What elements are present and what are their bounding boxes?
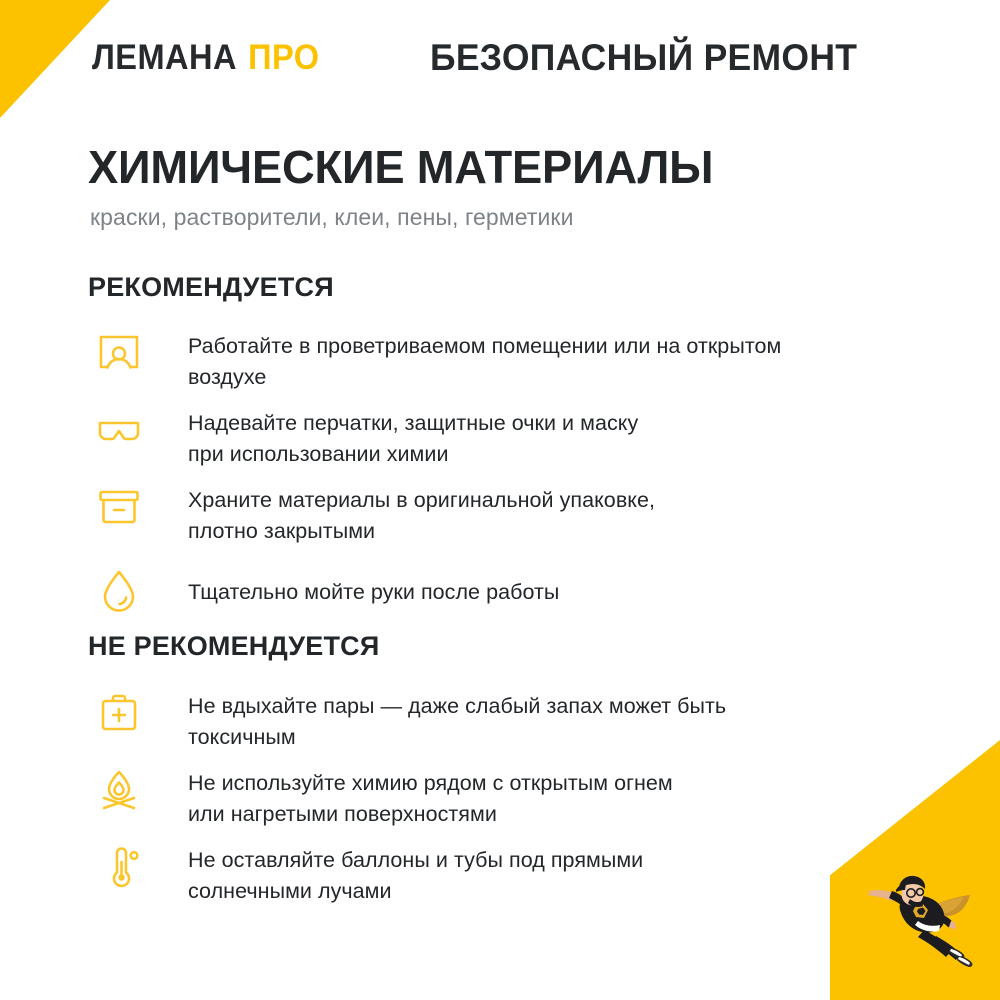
- first-aid-kit-icon: [88, 688, 188, 736]
- logo-secondary-text: ПРО: [248, 40, 319, 75]
- list-item: Тщательно мойте руки после работы: [88, 561, 918, 613]
- storage-box-icon: [88, 482, 188, 530]
- list-item-label: Храните материалы в оригинальной упаковк…: [188, 482, 918, 547]
- not-recommended-list: Не вдыхайте пары — даже слабый запах мож…: [88, 688, 918, 907]
- safety-goggles-icon: [88, 405, 188, 453]
- list-item-label: Не используйте химию рядом с открытым ог…: [188, 765, 918, 830]
- list-item: Работайте в проветриваемом помещении или…: [88, 328, 918, 393]
- list-item-label: Надевайте перчатки, защитные очки и маск…: [188, 405, 918, 470]
- list-item: Не вдыхайте пары — даже слабый запах мож…: [88, 688, 918, 753]
- list-item-label: Не оставляйте баллоны и тубы под прямыми…: [188, 842, 918, 907]
- list-item: Не оставляйте баллоны и тубы под прямыми…: [88, 842, 918, 907]
- thermometer-icon: [88, 842, 188, 890]
- logo-primary-text: ЛЕМАНА: [92, 40, 237, 75]
- section-heading-not-recommended: НЕ РЕКОМЕНДУЕТСЯ: [88, 631, 379, 662]
- brand-logo: ЛЕМАНАПРО: [92, 40, 320, 75]
- campfire-icon: [88, 765, 188, 813]
- list-item: Надевайте перчатки, защитные очки и маск…: [88, 405, 918, 470]
- header: ЛЕМАНАПРО БЕЗОПАСНЫЙ РЕМОНТ: [0, 0, 1000, 118]
- recommended-list: Работайте в проветриваемом помещении или…: [88, 328, 918, 613]
- list-item-label: Работайте в проветриваемом помещении или…: [188, 328, 918, 393]
- page-title: ХИМИЧЕСКИЕ МАТЕРИАЛЫ: [88, 143, 713, 191]
- header-tagline: БЕЗОПАСНЫЙ РЕМОНТ: [430, 39, 857, 76]
- list-item-label: Не вдыхайте пары — даже слабый запах мож…: [188, 688, 918, 753]
- section-heading-recommended: РЕКОМЕНДУЕТСЯ: [88, 272, 334, 303]
- list-item-label: Тщательно мойте руки после работы: [188, 561, 918, 608]
- page-subtitle: краски, растворители, клеи, пены, гермет…: [90, 204, 574, 231]
- flying-superhero-mascot: [852, 862, 982, 970]
- list-item: Храните материалы в оригинальной упаковк…: [88, 482, 918, 547]
- ventilated-room-icon: [88, 328, 188, 376]
- poster-root: ЛЕМАНАПРО БЕЗОПАСНЫЙ РЕМОНТ ХИМИЧЕСКИЕ М…: [0, 0, 1000, 1000]
- list-item: Не используйте химию рядом с открытым ог…: [88, 765, 918, 830]
- water-drop-icon: [88, 561, 188, 613]
